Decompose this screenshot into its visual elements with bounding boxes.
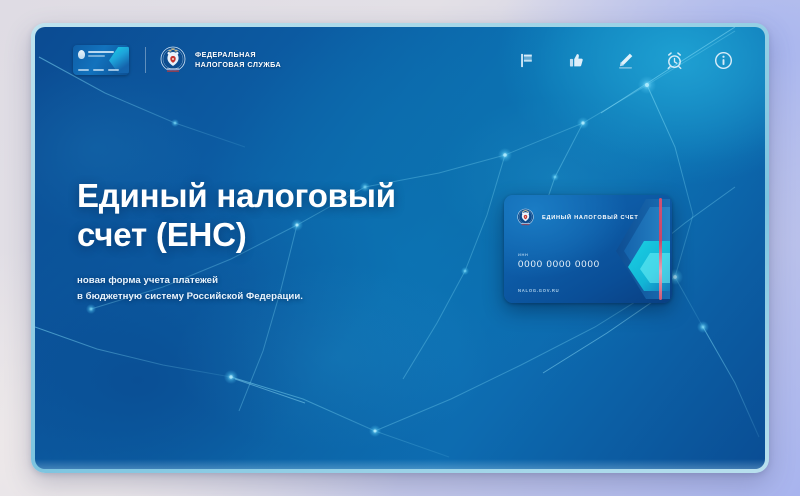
mini-emblem-icon (78, 50, 85, 59)
fns-brand[interactable]: ФЕДЕРАЛЬНАЯ НАЛОГОВАЯ СЛУЖБА (160, 46, 281, 74)
card-header: ЕДИНЫЙ НАЛОГОВЫЙ СЧЕТ (517, 208, 639, 227)
russian-coat-of-arms-emblem (160, 46, 186, 74)
card-number: 0000 0000 0000 (518, 259, 600, 270)
alarm-icon[interactable] (664, 50, 684, 70)
mini-line (88, 55, 105, 57)
card-inn-label: ИНН (518, 252, 528, 257)
ens-card-logo[interactable] (73, 45, 129, 75)
browser-panel-frame: ФЕДЕРАЛЬНАЯ НАЛОГОВАЯ СЛУЖБА (31, 23, 769, 473)
mini-line (88, 51, 114, 53)
mini-card-number (78, 69, 119, 72)
info-icon[interactable] (713, 50, 733, 70)
russian-coat-of-arms-emblem (517, 208, 534, 227)
brand-group: ФЕДЕРАЛЬНАЯ НАЛОГОВАЯ СЛУЖБА (73, 45, 281, 75)
header-tools (517, 50, 733, 70)
card-site-url: NALOG.GOV.RU (518, 288, 559, 293)
pencil-icon[interactable] (615, 50, 635, 70)
bottom-sheen (35, 459, 765, 469)
ens-card-visual[interactable]: ЕДИНЫЙ НАЛОГОВЫЙ СЧЕТ ИНН 0000 0000 0000… (504, 195, 672, 303)
card-title: ЕДИНЫЙ НАЛОГОВЫЙ СЧЕТ (542, 215, 639, 221)
flag-icon[interactable] (517, 50, 537, 70)
site-header: ФЕДЕРАЛЬНАЯ НАЛОГОВАЯ СЛУЖБА (35, 27, 765, 93)
fns-brand-label: ФЕДЕРАЛЬНАЯ НАЛОГОВАЯ СЛУЖБА (195, 50, 281, 71)
card-red-stripe (659, 198, 662, 300)
site-viewport: ФЕДЕРАЛЬНАЯ НАЛОГОВАЯ СЛУЖБА (35, 27, 765, 469)
header-divider (145, 47, 146, 73)
thumbs-up-icon[interactable] (566, 50, 586, 70)
